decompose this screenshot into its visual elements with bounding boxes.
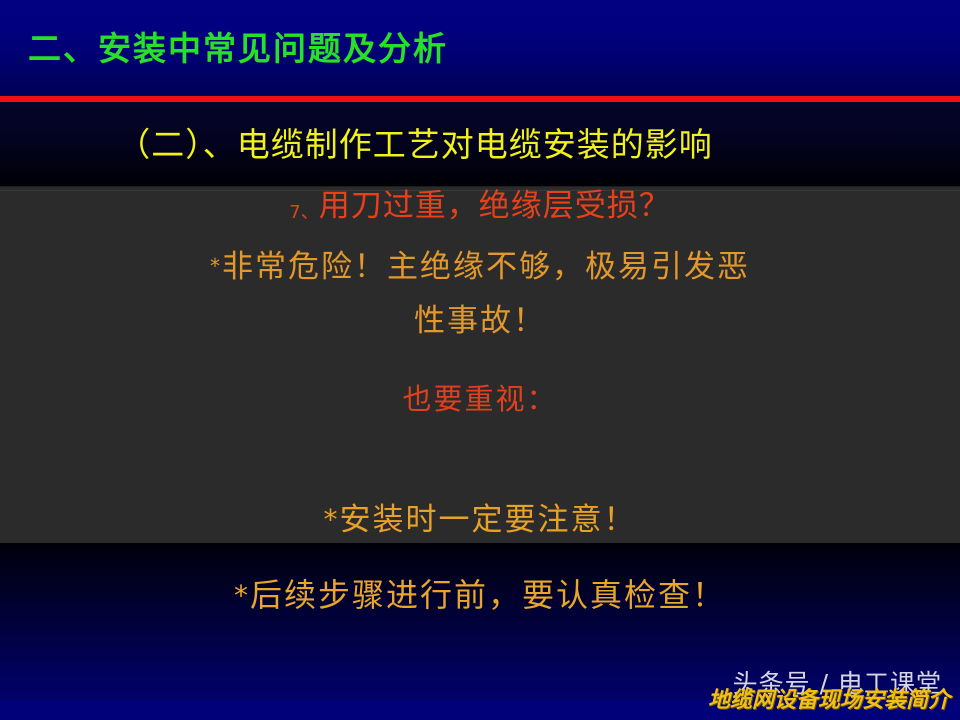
bullet-star-icon: * <box>234 579 250 612</box>
body-line-text: 也要重视： <box>402 382 557 416</box>
content-panel <box>0 186 960 543</box>
body-line-text: 非常危险！主绝缘不够，极易引发恶 <box>222 249 750 285</box>
slide-heading-sub: （二）、电缆制作工艺对电缆安装的影响 <box>0 118 830 166</box>
body-line-text: 安装时一定要注意！ <box>340 502 637 538</box>
presentation-slide: 二、安装中常见问题及分析 （二）、电缆制作工艺对电缆安装的影响 7、用刀过重，绝… <box>0 0 960 720</box>
body-line-danger-part2: 性事故！ <box>0 306 960 337</box>
body-line-also-important: 也要重视： <box>0 385 960 414</box>
watermark-source: 地缆网设备现场安装简介 <box>708 682 950 714</box>
body-line-text: 后续步骤进行前，要认真检查！ <box>250 576 726 614</box>
body-line-danger-part1: *非常危险！主绝缘不够，极易引发恶 <box>0 252 960 283</box>
topic-line: 7、用刀过重，绝缘层受损？ <box>0 191 960 222</box>
topic-text: 用刀过重，绝缘层受损？ <box>319 188 671 224</box>
body-line-inspect-notice: *后续步骤进行前，要认真检查！ <box>0 579 960 611</box>
topic-number: 7、 <box>289 202 318 223</box>
slide-heading-main: 二、安装中常见问题及分析 <box>28 22 448 70</box>
body-line-text: 性事故！ <box>414 303 546 339</box>
bullet-star-icon: * <box>210 254 222 278</box>
body-line-install-notice: *安装时一定要注意！ <box>0 505 960 536</box>
bullet-star-icon: * <box>324 503 340 536</box>
